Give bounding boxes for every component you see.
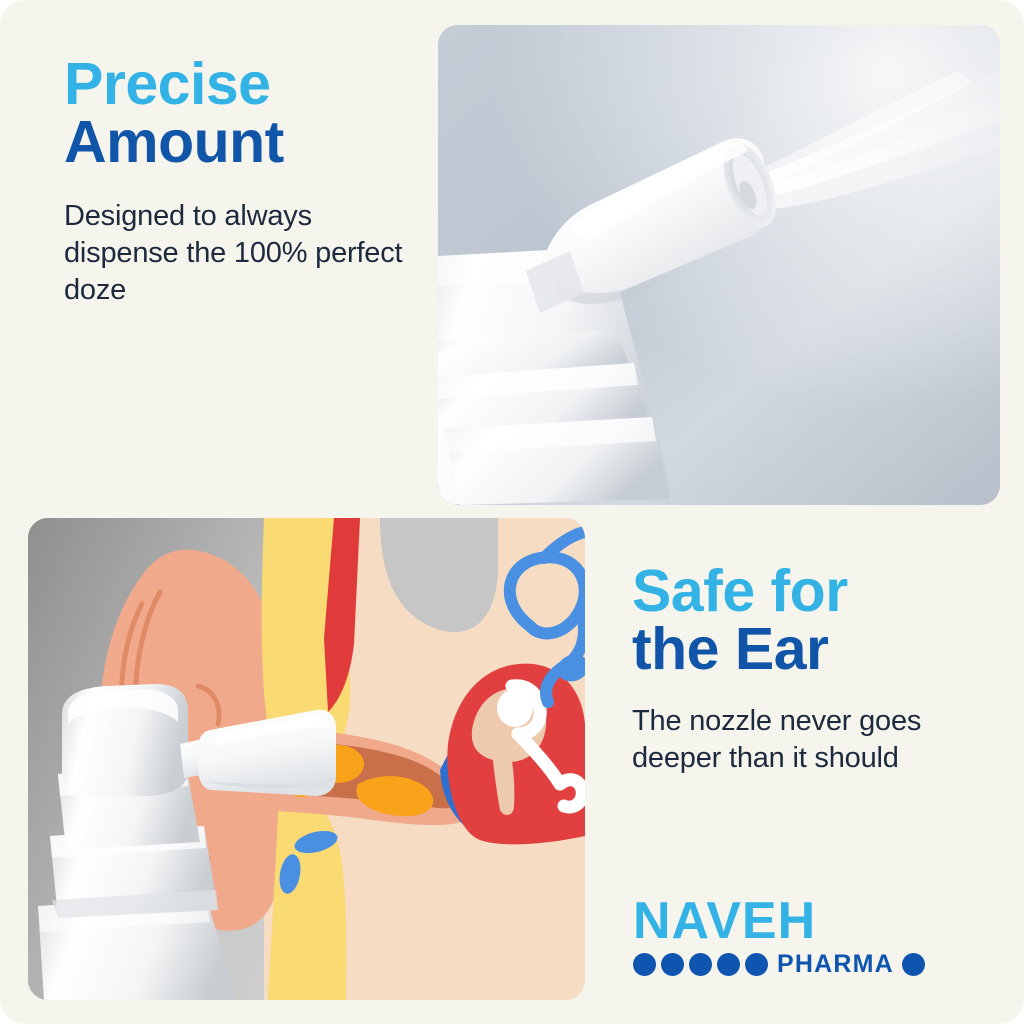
logo-dot-icon bbox=[902, 953, 925, 976]
feature-image-ear-anatomy bbox=[28, 518, 585, 1000]
brand-logo: NAVEH PHARMA bbox=[633, 895, 923, 977]
headline-line-2: Amount bbox=[64, 114, 414, 172]
logo-dot-icon bbox=[745, 953, 768, 976]
feature-block-precise-amount: Precise Amount Designed to always dispen… bbox=[64, 56, 414, 309]
ear-anatomy-illustration bbox=[28, 518, 585, 1000]
pump-head bbox=[62, 684, 188, 798]
feature-body-safe-for-the-ear: The nozzle never goes deeper than it sho… bbox=[632, 703, 962, 777]
feature-body-precise-amount: Designed to always dispense the 100% per… bbox=[64, 198, 414, 309]
pump-shoulder bbox=[444, 417, 670, 505]
logo-sub-wordmark: PHARMA bbox=[777, 952, 894, 977]
headline-line-1: Safe for bbox=[632, 563, 962, 621]
feature-image-spray-nozzle bbox=[438, 25, 1000, 505]
logo-dot-icon bbox=[689, 953, 712, 976]
ossicle-head bbox=[497, 689, 533, 727]
logo-wordmark: NAVEH bbox=[633, 895, 923, 947]
logo-dot-icon bbox=[633, 953, 656, 976]
logo-dot-icon bbox=[717, 953, 740, 976]
feature-panel: Precise Amount Designed to always dispen… bbox=[0, 0, 1024, 1024]
feature-headline-precise-amount: Precise Amount bbox=[64, 56, 414, 172]
logo-dot-icon bbox=[661, 953, 684, 976]
headline-line-1: Precise bbox=[64, 56, 414, 114]
spray-nozzle-illustration bbox=[438, 25, 1000, 505]
logo-lockup: PHARMA bbox=[633, 952, 923, 977]
feature-block-safe-for-the-ear: Safe for the Ear The nozzle never goes d… bbox=[632, 563, 962, 777]
headline-line-2: the Ear bbox=[632, 621, 962, 679]
feature-headline-safe-for-the-ear: Safe for the Ear bbox=[632, 563, 962, 679]
